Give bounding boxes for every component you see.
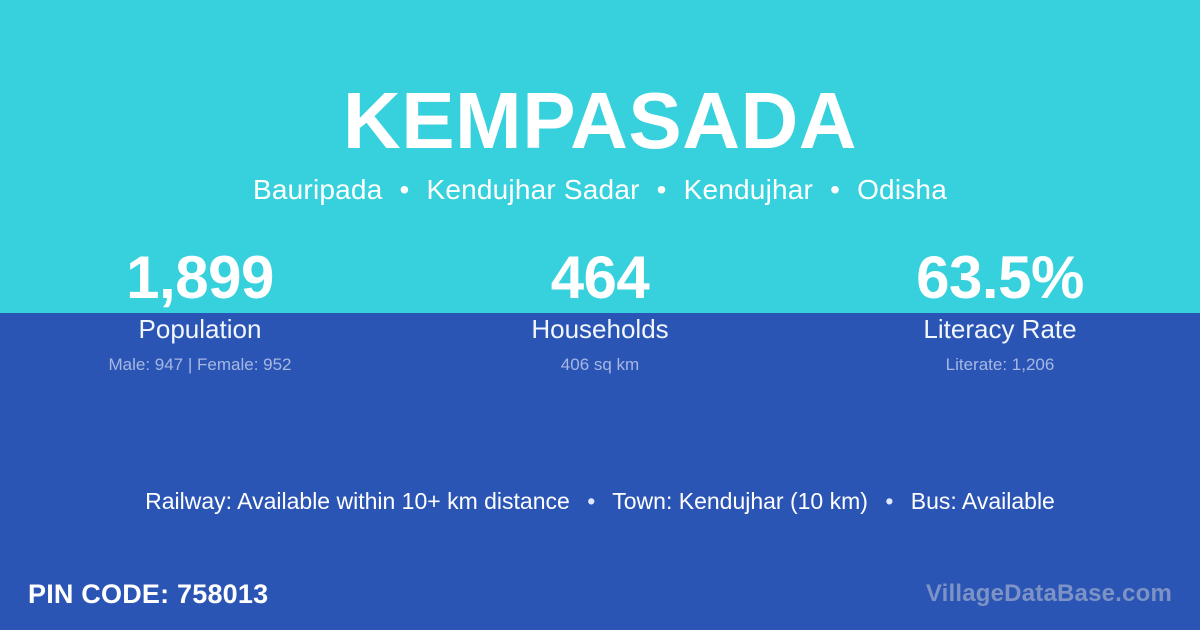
breadcrumb-item-district: Kendujhar	[684, 174, 813, 205]
stat-label: Population	[0, 313, 400, 345]
stat-value: 1,899	[0, 244, 400, 312]
infra-item-bus: Bus: Available	[911, 488, 1055, 514]
stat-value: 63.5%	[800, 244, 1200, 312]
stat-value: 464	[400, 244, 800, 312]
stat-label: Literacy Rate	[800, 313, 1200, 345]
infra-item-town: Town: Kendujhar (10 km)	[612, 488, 868, 514]
breadcrumb-item-block: Kendujhar Sadar	[426, 174, 639, 205]
stat-sub: Male: 947 | Female: 952	[0, 354, 400, 376]
site-watermark: VillageDataBase.com	[926, 579, 1172, 609]
infra-separator: •	[576, 486, 606, 516]
pin-code: PIN CODE: 758013	[28, 577, 268, 611]
breadcrumb-item-state: Odisha	[857, 174, 947, 205]
page-title: KEMPASADA	[0, 82, 1200, 160]
stat-population: 1,899 Population Male: 947 | Female: 952	[0, 244, 400, 376]
stat-sub: 406 sq km	[400, 354, 800, 376]
stat-sub: Literate: 1,206	[800, 354, 1200, 376]
breadcrumb-separator: •	[390, 172, 418, 207]
infra-separator: •	[874, 486, 904, 516]
infrastructure-line: Railway: Available within 10+ km distanc…	[0, 486, 1200, 516]
stat-literacy-rate: 63.5% Literacy Rate Literate: 1,206	[800, 244, 1200, 376]
breadcrumb-separator: •	[821, 172, 849, 207]
stats-row: 1,899 Population Male: 947 | Female: 952…	[0, 244, 1200, 376]
stat-households: 464 Households 406 sq km	[400, 244, 800, 376]
stat-label: Households	[400, 313, 800, 345]
hero-section: KEMPASADA Bauripada • Kendujhar Sadar • …	[0, 0, 1200, 207]
village-info-card: KEMPASADA Bauripada • Kendujhar Sadar • …	[0, 0, 1200, 630]
card-footer: PIN CODE: 758013 VillageDataBase.com	[0, 558, 1200, 630]
breadcrumb-item-panchayat: Bauripada	[253, 174, 382, 205]
breadcrumb: Bauripada • Kendujhar Sadar • Kendujhar …	[0, 172, 1200, 207]
infra-item-railway: Railway: Available within 10+ km distanc…	[145, 488, 570, 514]
breadcrumb-separator: •	[648, 172, 676, 207]
